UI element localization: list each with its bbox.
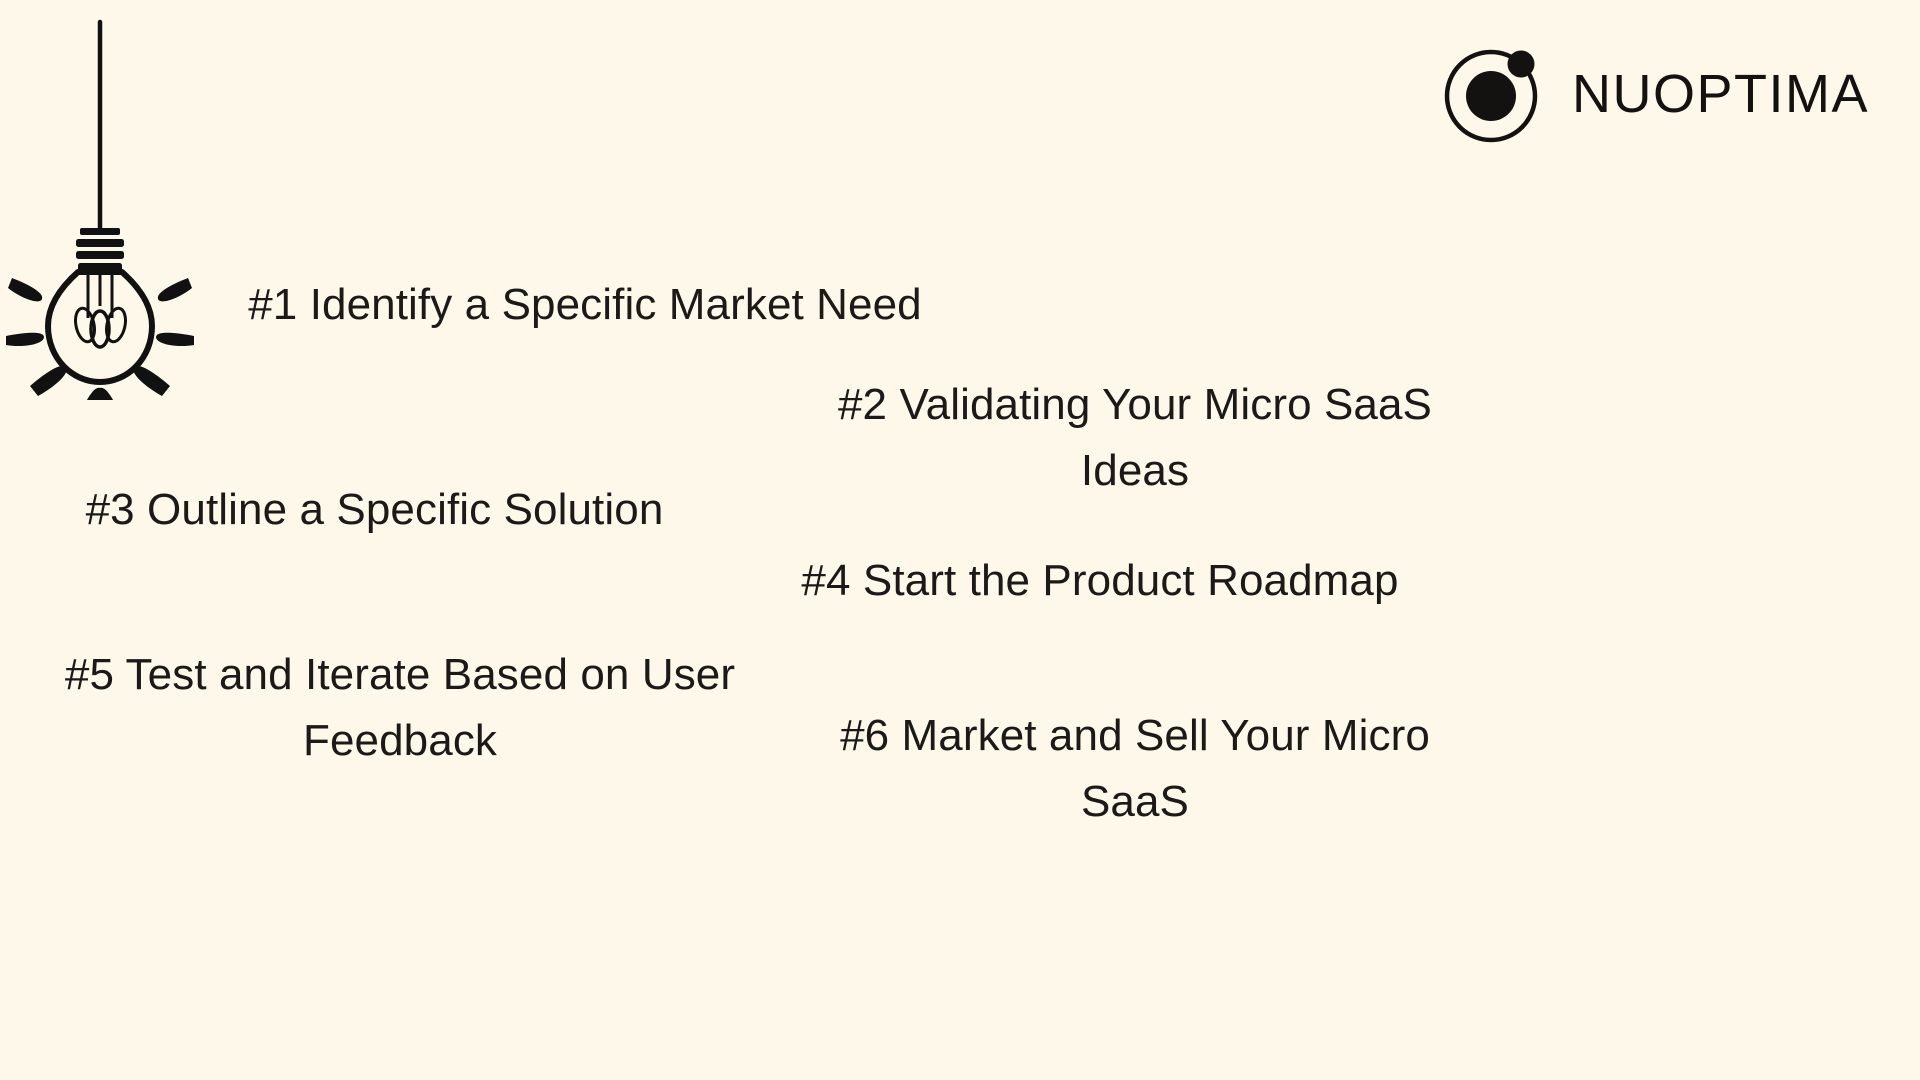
step-item-5: #5 Test and Iterate Based on User Feedba… xyxy=(35,642,765,774)
step-item-2: #2 Validating Your Micro SaaS Ideas xyxy=(800,372,1470,504)
infographic-canvas: NUOPTIMA #1 Identify a Specific Market N… xyxy=(0,0,1920,1080)
step-item-6: #6 Market and Sell Your Micro SaaS xyxy=(800,703,1470,835)
nuoptima-logo: NUOPTIMA xyxy=(1442,42,1869,146)
orbit-circle-logo-icon xyxy=(1442,42,1546,146)
step-item-4: #4 Start the Product Roadmap xyxy=(775,548,1425,614)
nuoptima-wordmark: NUOPTIMA xyxy=(1572,67,1869,121)
step-item-1: #1 Identify a Specific Market Need xyxy=(215,272,955,338)
step-item-3: #3 Outline a Specific Solution xyxy=(62,477,687,543)
hanging-lightbulb-icon xyxy=(0,0,230,405)
